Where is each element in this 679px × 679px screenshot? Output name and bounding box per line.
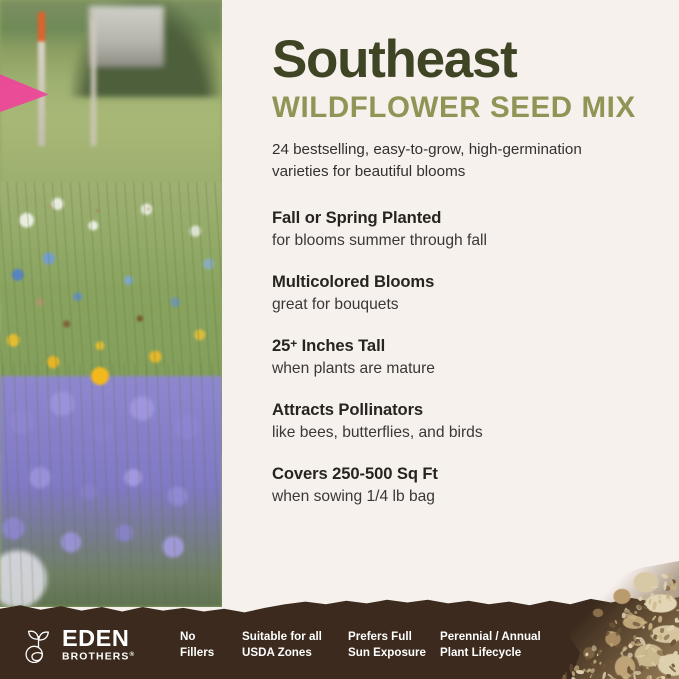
feature-item: Fall or Spring Planted for blooms summer… — [272, 208, 649, 251]
content-column: Southeast WILDFLOWER SEED MIX 24 bestsel… — [222, 0, 679, 607]
footer-benefit-usda-zones: Suitable for all USDA Zones — [242, 629, 348, 661]
feature-heading: 25+ Inches Tall — [272, 336, 649, 357]
feature-subtext: like bees, butterflies, and birds — [272, 423, 649, 443]
logo-eden-text: EDEN — [62, 627, 135, 650]
photo-post — [38, 12, 46, 146]
feature-item: Attracts Pollinators like bees, butterfl… — [272, 400, 649, 443]
product-infographic-card: Southeast WILDFLOWER SEED MIX 24 bestsel… — [0, 0, 679, 679]
feature-item: Multicolored Blooms great for bouquets — [272, 272, 649, 315]
feature-item: Covers 250-500 Sq Ft when sowing 1/4 lb … — [272, 464, 649, 507]
feature-subtext: for blooms summer through fall — [272, 231, 649, 251]
feature-list: Fall or Spring Planted for blooms summer… — [272, 208, 649, 507]
logo-brothers-label: BROTHERS — [62, 651, 130, 662]
photo-barn — [89, 6, 164, 67]
photo-larkspur-stems — [0, 364, 222, 607]
feature-heading: Fall or Spring Planted — [272, 208, 649, 229]
footer-benefit-sun-exposure: Prefers Full Sun Exposure — [348, 629, 440, 661]
feature-subtext: when sowing 1/4 lb bag — [272, 487, 649, 507]
feature-heading: Multicolored Blooms — [272, 272, 649, 293]
product-description: 24 bestselling, easy-to-grow, high-germi… — [272, 139, 624, 182]
footer-benefit-plant-lifecycle: Perennial / Annual Plant Lifecycle — [440, 629, 570, 661]
feature-item: 25+ Inches Tall when plants are mature — [272, 336, 649, 379]
footer-content: EDEN BROTHERS® No Fillers Suitable for a… — [0, 611, 679, 679]
sprout-icon — [22, 627, 55, 663]
feature-subtext: great for bouquets — [272, 295, 649, 315]
logo-brothers-text: BROTHERS® — [62, 651, 135, 663]
product-title: Southeast — [272, 33, 649, 87]
wildflower-meadow-photo — [0, 0, 222, 607]
product-subtitle: WILDFLOWER SEED MIX — [272, 93, 649, 124]
logo-wordmark: EDEN BROTHERS® — [62, 627, 135, 663]
feature-heading: Attracts Pollinators — [272, 400, 649, 421]
photo-yellow-bloom — [89, 364, 111, 388]
footer-benefit-no-fillers: No Fillers — [180, 629, 242, 661]
feature-heading: Covers 250-500 Sq Ft — [272, 464, 649, 485]
eden-brothers-logo: EDEN BROTHERS® — [22, 627, 150, 663]
registered-trademark-icon: ® — [130, 651, 136, 658]
photo-post-secondary — [91, 18, 96, 145]
feature-subtext: when plants are mature — [272, 359, 649, 379]
